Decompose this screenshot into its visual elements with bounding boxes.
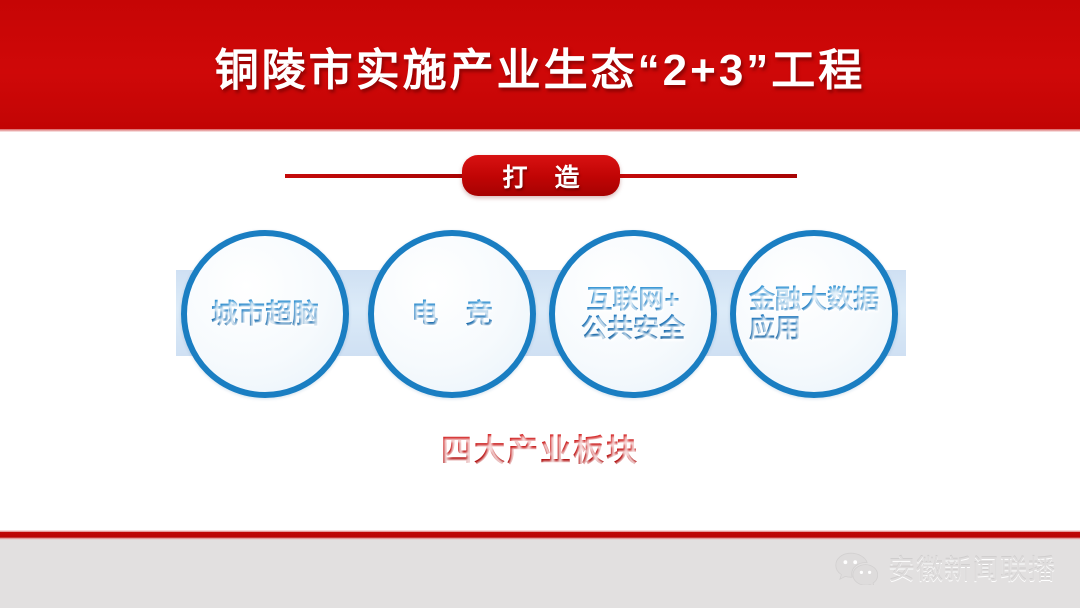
- watermark: 安徽新闻联播: [834, 548, 1056, 587]
- industry-circle-label: 城市超脑: [207, 299, 323, 329]
- circles-row: 城市超脑 电 竞 互联网+ 公共安全 金融大数据 应用: [0, 230, 1080, 415]
- footer-divider-rule: [0, 530, 1080, 540]
- industry-circle: 城市超脑: [181, 230, 349, 398]
- page-title: 铜陵市实施产业生态“2+3”工程: [0, 0, 1080, 132]
- slide-canvas: 铜陵市实施产业生态“2+3”工程 打 造 城市超脑 电 竞 互联网+ 公共安全 …: [0, 0, 1080, 608]
- industry-circle: 金融大数据 应用: [730, 230, 898, 398]
- section-badge: 打 造: [462, 155, 620, 196]
- wechat-icon: [834, 551, 878, 585]
- industry-circle: 电 竞: [368, 230, 536, 398]
- divider: 打 造: [0, 155, 1080, 197]
- industry-circle-label: 电 竞: [397, 299, 507, 329]
- watermark-label: 安徽新闻联播: [888, 548, 1056, 587]
- divider-line-right: [612, 174, 797, 178]
- industry-circle-label: 互联网+ 公共安全: [577, 285, 689, 343]
- divider-line-left: [285, 174, 470, 178]
- industry-circle-label: 金融大数据 应用: [745, 285, 883, 343]
- industry-circle: 互联网+ 公共安全: [549, 230, 717, 398]
- diagram-caption: 四大产业板块: [0, 425, 1080, 470]
